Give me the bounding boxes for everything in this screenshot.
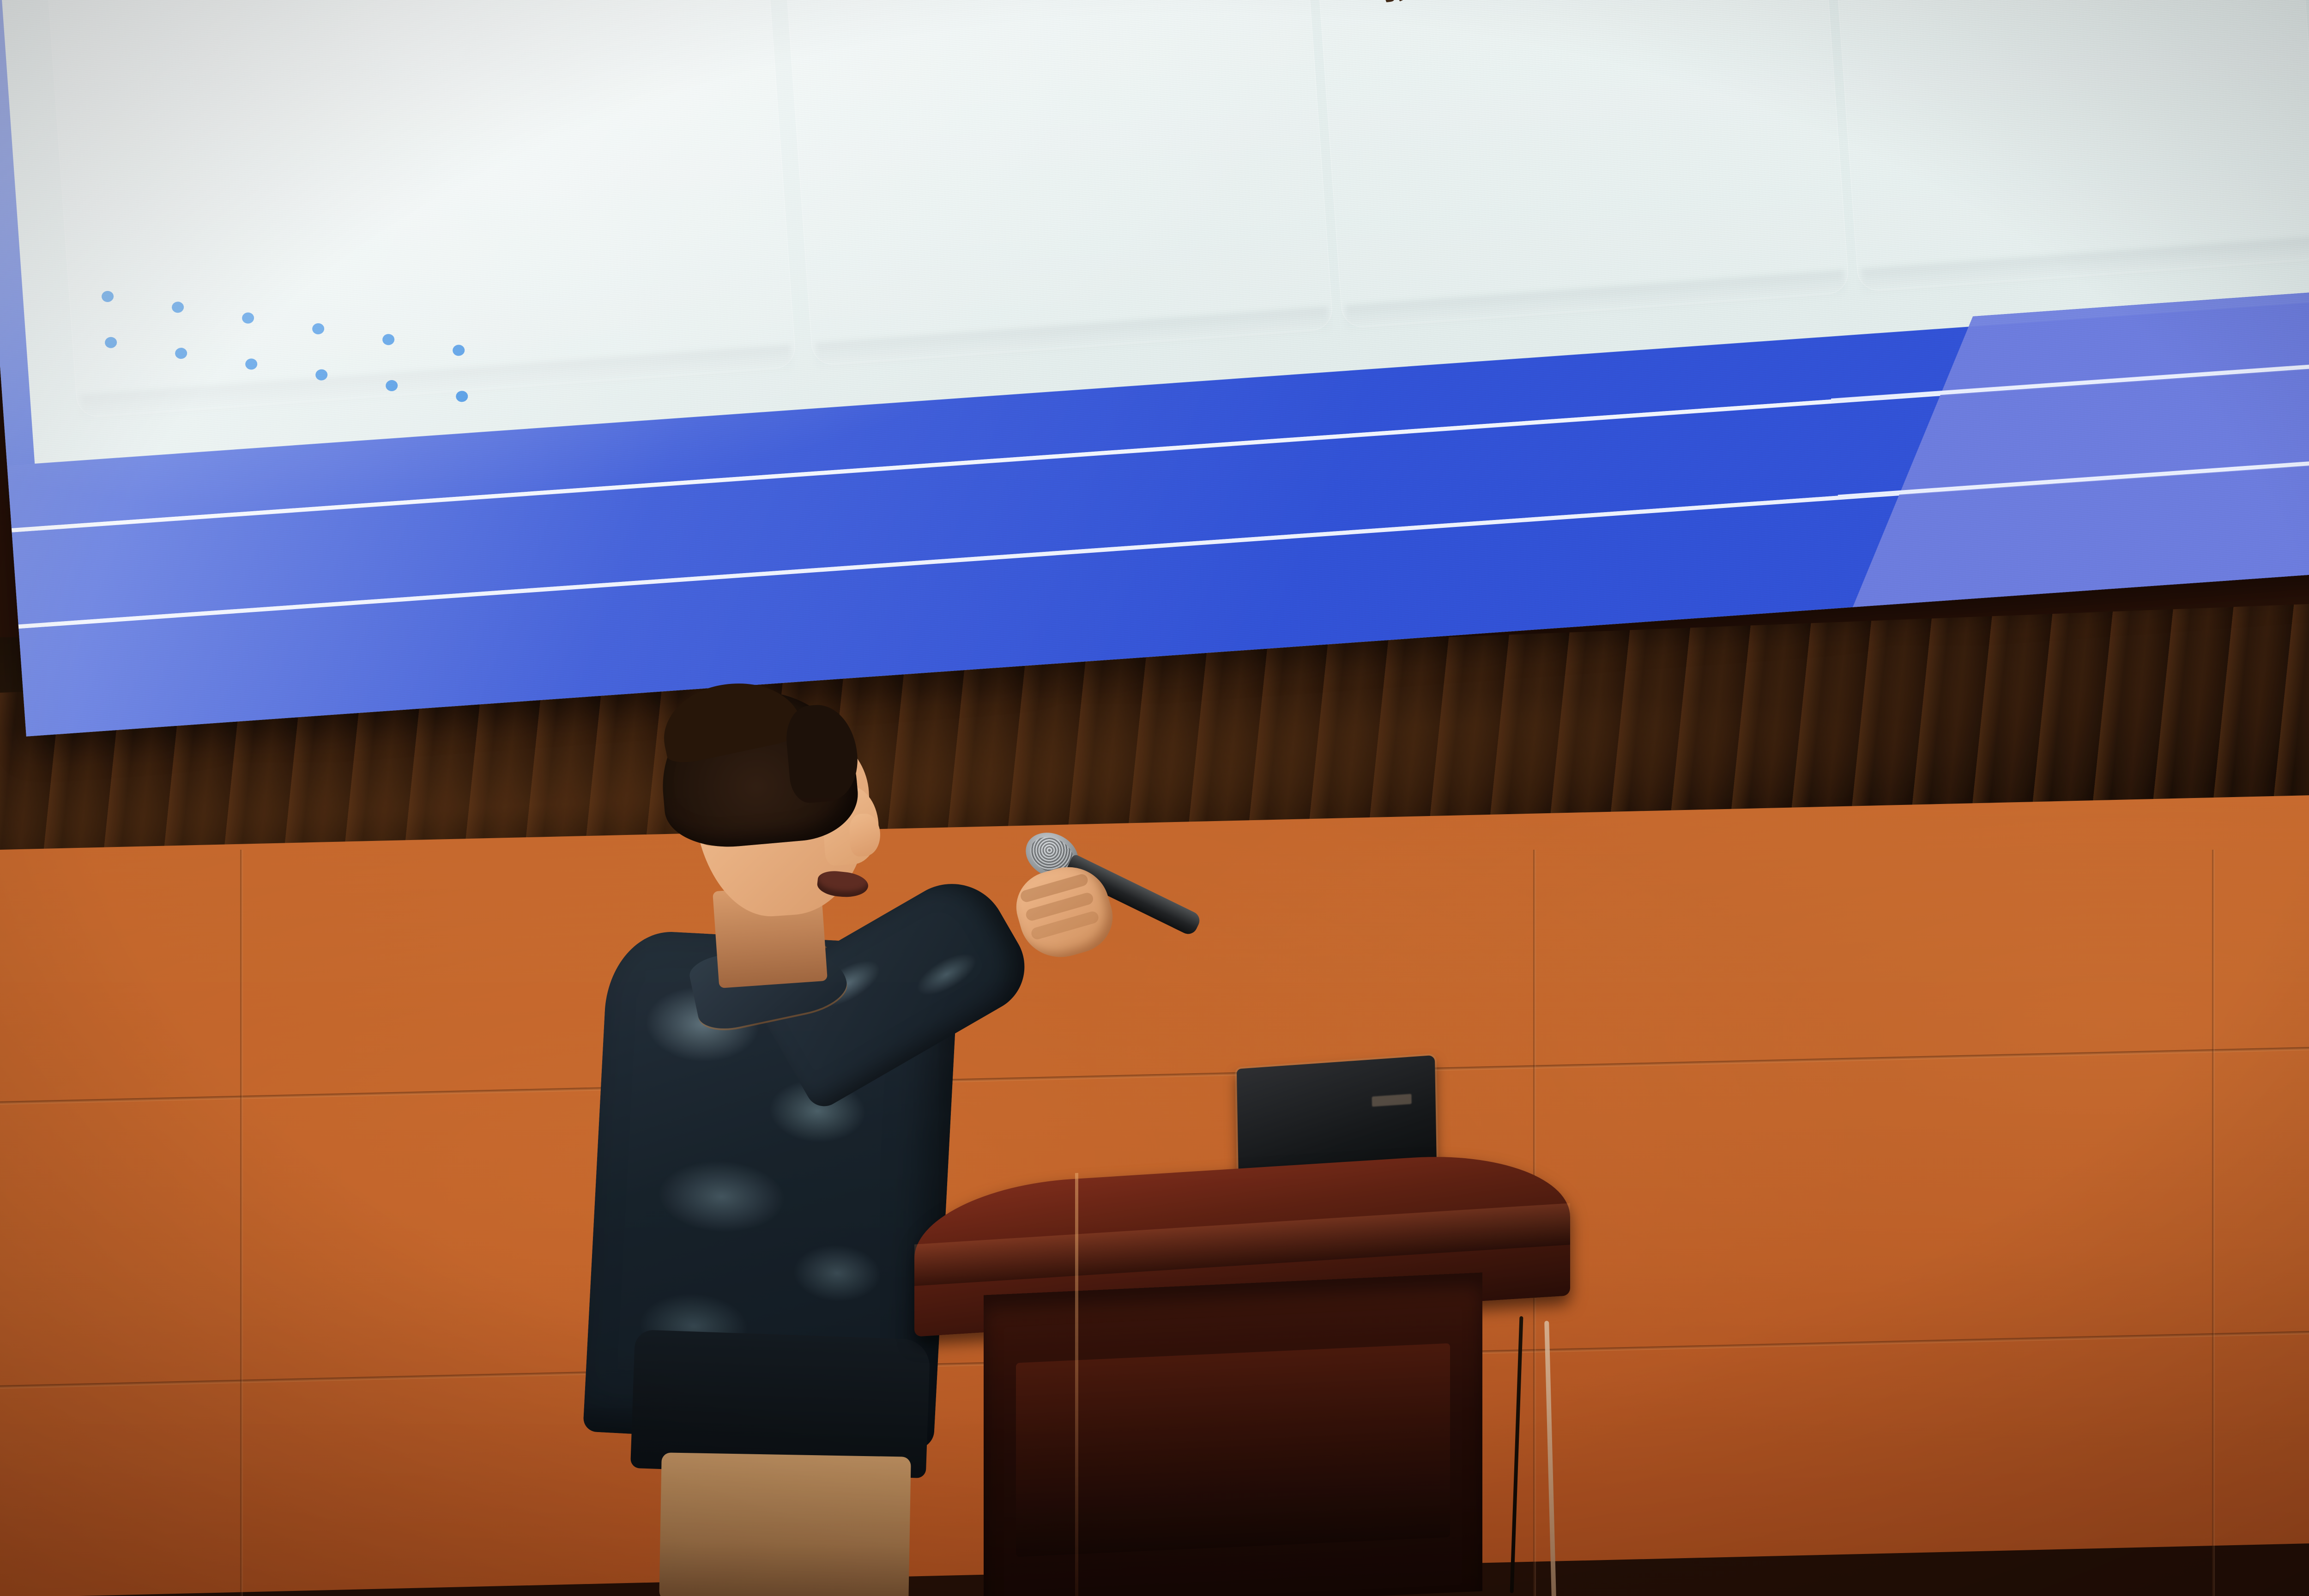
- wall-seam: [240, 850, 243, 1596]
- podium-edge-highlight: [1075, 1173, 1078, 1596]
- cable: [1544, 1321, 1556, 1596]
- speaker-trousers: [659, 1452, 911, 1596]
- slide-card-1: 习 （哪些课程拿得出手）: [14, 0, 796, 418]
- card-3-bullet-list: 学生工作 科创文体比赛 个人特长 英语、计算机 技能证书等: [1319, 0, 1809, 12]
- list-item: 英语、计算机 技能证书等: [1331, 0, 1809, 12]
- slide-card-3: 校园成长 学生工作 科创文体比赛 个人特长 英语、计算机 技能证书等: [1280, 0, 1850, 328]
- podium-front-panel: [984, 1272, 1482, 1596]
- slide-card-4: 综合能力 表达能力 沟通能力 团队合作 抗压能力...: [1795, 0, 2309, 292]
- photo-scene: 习 （哪些课程拿得出手） 历 项目经历 实习实践 课程设计 校园成长 学生工作 …: [0, 0, 2309, 1596]
- bullet-label: 英语、计算机 技能证书等: [1376, 0, 1671, 10]
- speaker-hair: [655, 683, 861, 852]
- slide-card-2: 历 项目经历 实习实践 课程设计: [750, 0, 1333, 366]
- wall-seam: [2212, 850, 2215, 1596]
- podium: [914, 1053, 1635, 1596]
- cable: [1510, 1316, 1523, 1593]
- laptop-logo: [1372, 1094, 1412, 1107]
